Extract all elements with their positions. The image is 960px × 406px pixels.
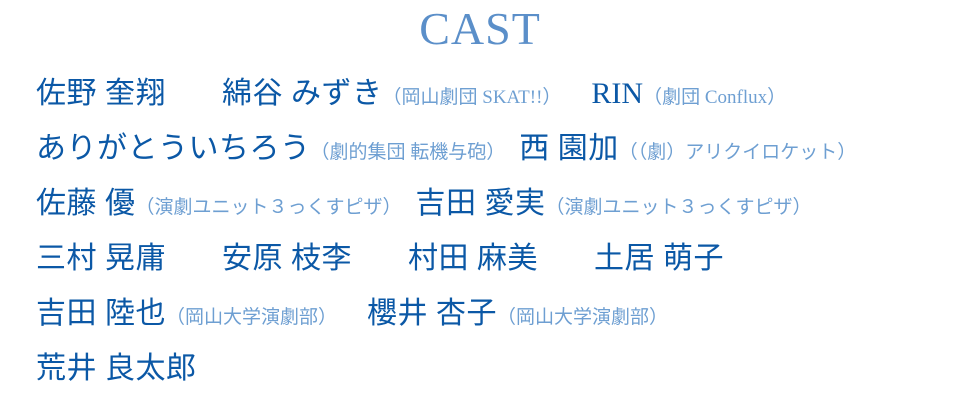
cast-member-name: 佐野 奎翔 [36, 77, 166, 110]
cast-member-affiliation: （岡山劇団 SKAT!!） [383, 87, 562, 108]
cast-member-name: 安原 枝李 [222, 242, 352, 275]
cast-member-name: RIN [591, 77, 643, 110]
cast-page: CAST 佐野 奎翔 綿谷 みずき（岡山劇団 SKAT!!） RIN（劇団 Co… [0, 0, 960, 400]
cast-member-name: ありがとういちろう [36, 132, 311, 165]
cast-member-name: 吉田 愛実 [416, 187, 546, 220]
page-title: CAST [0, 2, 960, 56]
cast-member-affiliation: （岡山大学演劇部） [497, 307, 668, 328]
cast-member-name: 綿谷 みずき [222, 77, 383, 110]
cast-member-name: 佐藤 優 [36, 187, 136, 220]
cast-member-name: 櫻井 杏子 [367, 297, 497, 330]
cast-row: 吉田 陸也（岡山大学演劇部） 櫻井 杏子（岡山大学演劇部） [36, 286, 948, 341]
cast-row: ありがとういちろう（劇的集団 転機与砲） 西 園加（（劇）アリクイロケット） [36, 121, 948, 176]
cast-row: 佐藤 優（演劇ユニット３っくすピザ） 吉田 愛実（演劇ユニット３っくすピザ） [36, 176, 948, 231]
cast-member-affiliation: （（劇）アリクイロケット） [619, 142, 857, 163]
cast-member-affiliation: （劇団 Conflux） [643, 87, 786, 108]
cast-member-affiliation: （演劇ユニット３っくすピザ） [136, 197, 402, 218]
cast-member-name: 吉田 陸也 [36, 297, 166, 330]
cast-entry: 櫻井 杏子（岡山大学演劇部） [367, 286, 668, 351]
cast-member-name: 村田 麻美 [408, 242, 538, 275]
cast-member-name: 三村 晃庸 [36, 242, 166, 275]
cast-row: 佐野 奎翔 綿谷 みずき（岡山劇団 SKAT!!） RIN（劇団 Conflux… [36, 66, 948, 121]
cast-member-name: 西 園加 [519, 132, 619, 165]
cast-member-affiliation: （演劇ユニット３っくすピザ） [546, 197, 812, 218]
cast-member-affiliation: （岡山大学演劇部） [166, 307, 337, 328]
cast-entry: 荒井 良太郎 [36, 341, 197, 406]
cast-member-affiliation: （劇的集団 転機与砲） [311, 142, 506, 163]
cast-member-name: 荒井 良太郎 [36, 352, 197, 385]
cast-member-name: 土居 萌子 [594, 242, 724, 275]
cast-list: 佐野 奎翔 綿谷 みずき（岡山劇団 SKAT!!） RIN（劇団 Conflux… [36, 66, 948, 396]
